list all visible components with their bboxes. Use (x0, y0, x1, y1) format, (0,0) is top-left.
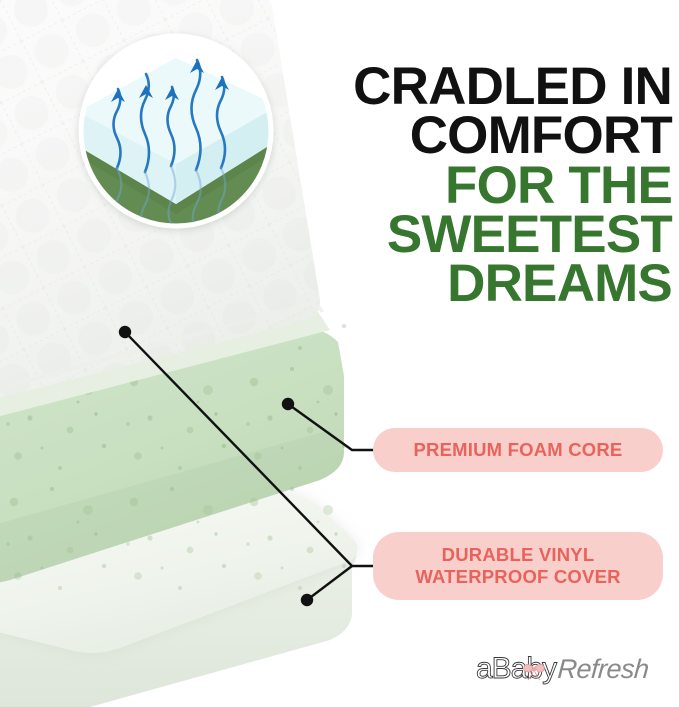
headline-line-2: COMFORT (300, 111, 672, 160)
headline-line-1: CRADLED IN (300, 62, 672, 111)
badge-foam-label: PREMIUM FOAM CORE (414, 439, 623, 461)
headline-line-5: DREAMS (300, 259, 672, 308)
badge-premium-foam-core: PREMIUM FOAM CORE (373, 428, 663, 472)
foam-core-dot (282, 398, 294, 410)
quilted-top-cover-dot (119, 326, 131, 338)
headline-line-4: SWEETEST (300, 210, 672, 259)
logo-text-ababy: aBaby (476, 652, 557, 685)
headline-block: CRADLED IN COMFORT FOR THE SWEETEST DREA… (300, 62, 672, 308)
logo-text-refresh: Refresh (557, 654, 650, 684)
infographic-canvas: CRADLED IN COMFORT FOR THE SWEETEST DREA… (0, 0, 679, 707)
badge-durable-vinyl-waterproof-cover: DURABLE VINYL WATERPROOF COVER (373, 532, 663, 600)
headline-line-3: FOR THE (300, 161, 672, 210)
badge-vinyl-label-line-2: WATERPROOF COVER (415, 566, 620, 588)
vinyl-cover-dot (301, 594, 313, 606)
badge-vinyl-label-line-1: DURABLE VINYL (442, 544, 595, 566)
brand-logo-ababyrefresh: aBaby Refresh (476, 650, 666, 690)
